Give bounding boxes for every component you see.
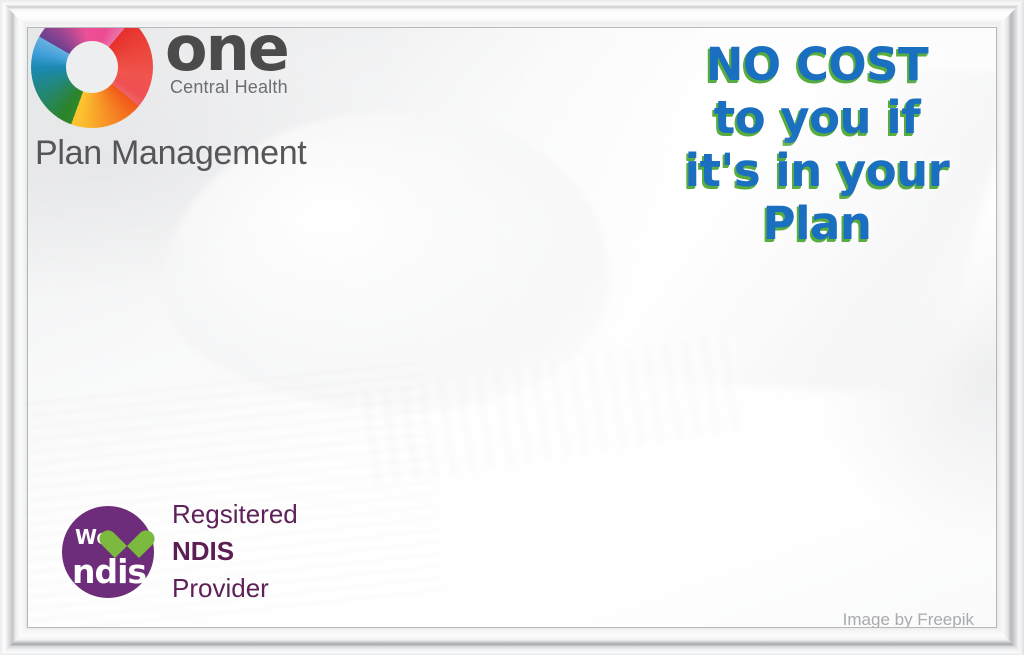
heart-icon <box>110 519 144 550</box>
headline-line-1: NO COST <box>652 38 982 91</box>
headline-line-4: Plan <box>652 197 982 250</box>
brand-wordmark: one Central Health <box>165 6 288 98</box>
ndis-badge-ndis-text: ndis <box>72 555 146 588</box>
brand-tagline: Plan Management <box>35 134 306 173</box>
ring-center-hole <box>66 41 118 93</box>
headline-line-2: to you if <box>652 91 982 144</box>
brand-name: one <box>165 22 288 75</box>
ndis-text-line-3: Provider <box>172 570 298 607</box>
promo-banner: one Central Health Plan Management NO CO… <box>0 0 1024 655</box>
ndis-text-line-2: NDIS <box>172 533 298 570</box>
ndis-provider-block: We ndis Regsitered NDIS Provider <box>62 496 298 607</box>
we-love-ndis-badge-icon: We ndis <box>62 506 154 598</box>
brand-lockup: one Central Health Plan Management <box>31 6 306 173</box>
brand-row: one Central Health <box>31 6 306 128</box>
frame-right-bevel <box>996 0 1024 655</box>
headline-block: NO COST to you if it's in your Plan <box>652 38 982 250</box>
one-central-health-ring-logo-icon <box>31 6 153 128</box>
ndis-provider-text: Regsitered NDIS Provider <box>172 496 298 607</box>
ndis-text-line-1: Regsitered <box>172 496 298 533</box>
image-credit: Image by Freepik <box>843 610 974 630</box>
brand-subtitle: Central Health <box>165 77 288 98</box>
frame-bottom-bevel <box>0 627 1024 655</box>
headline-line-3: it's in your <box>652 144 982 197</box>
frame-left-bevel <box>0 0 28 655</box>
